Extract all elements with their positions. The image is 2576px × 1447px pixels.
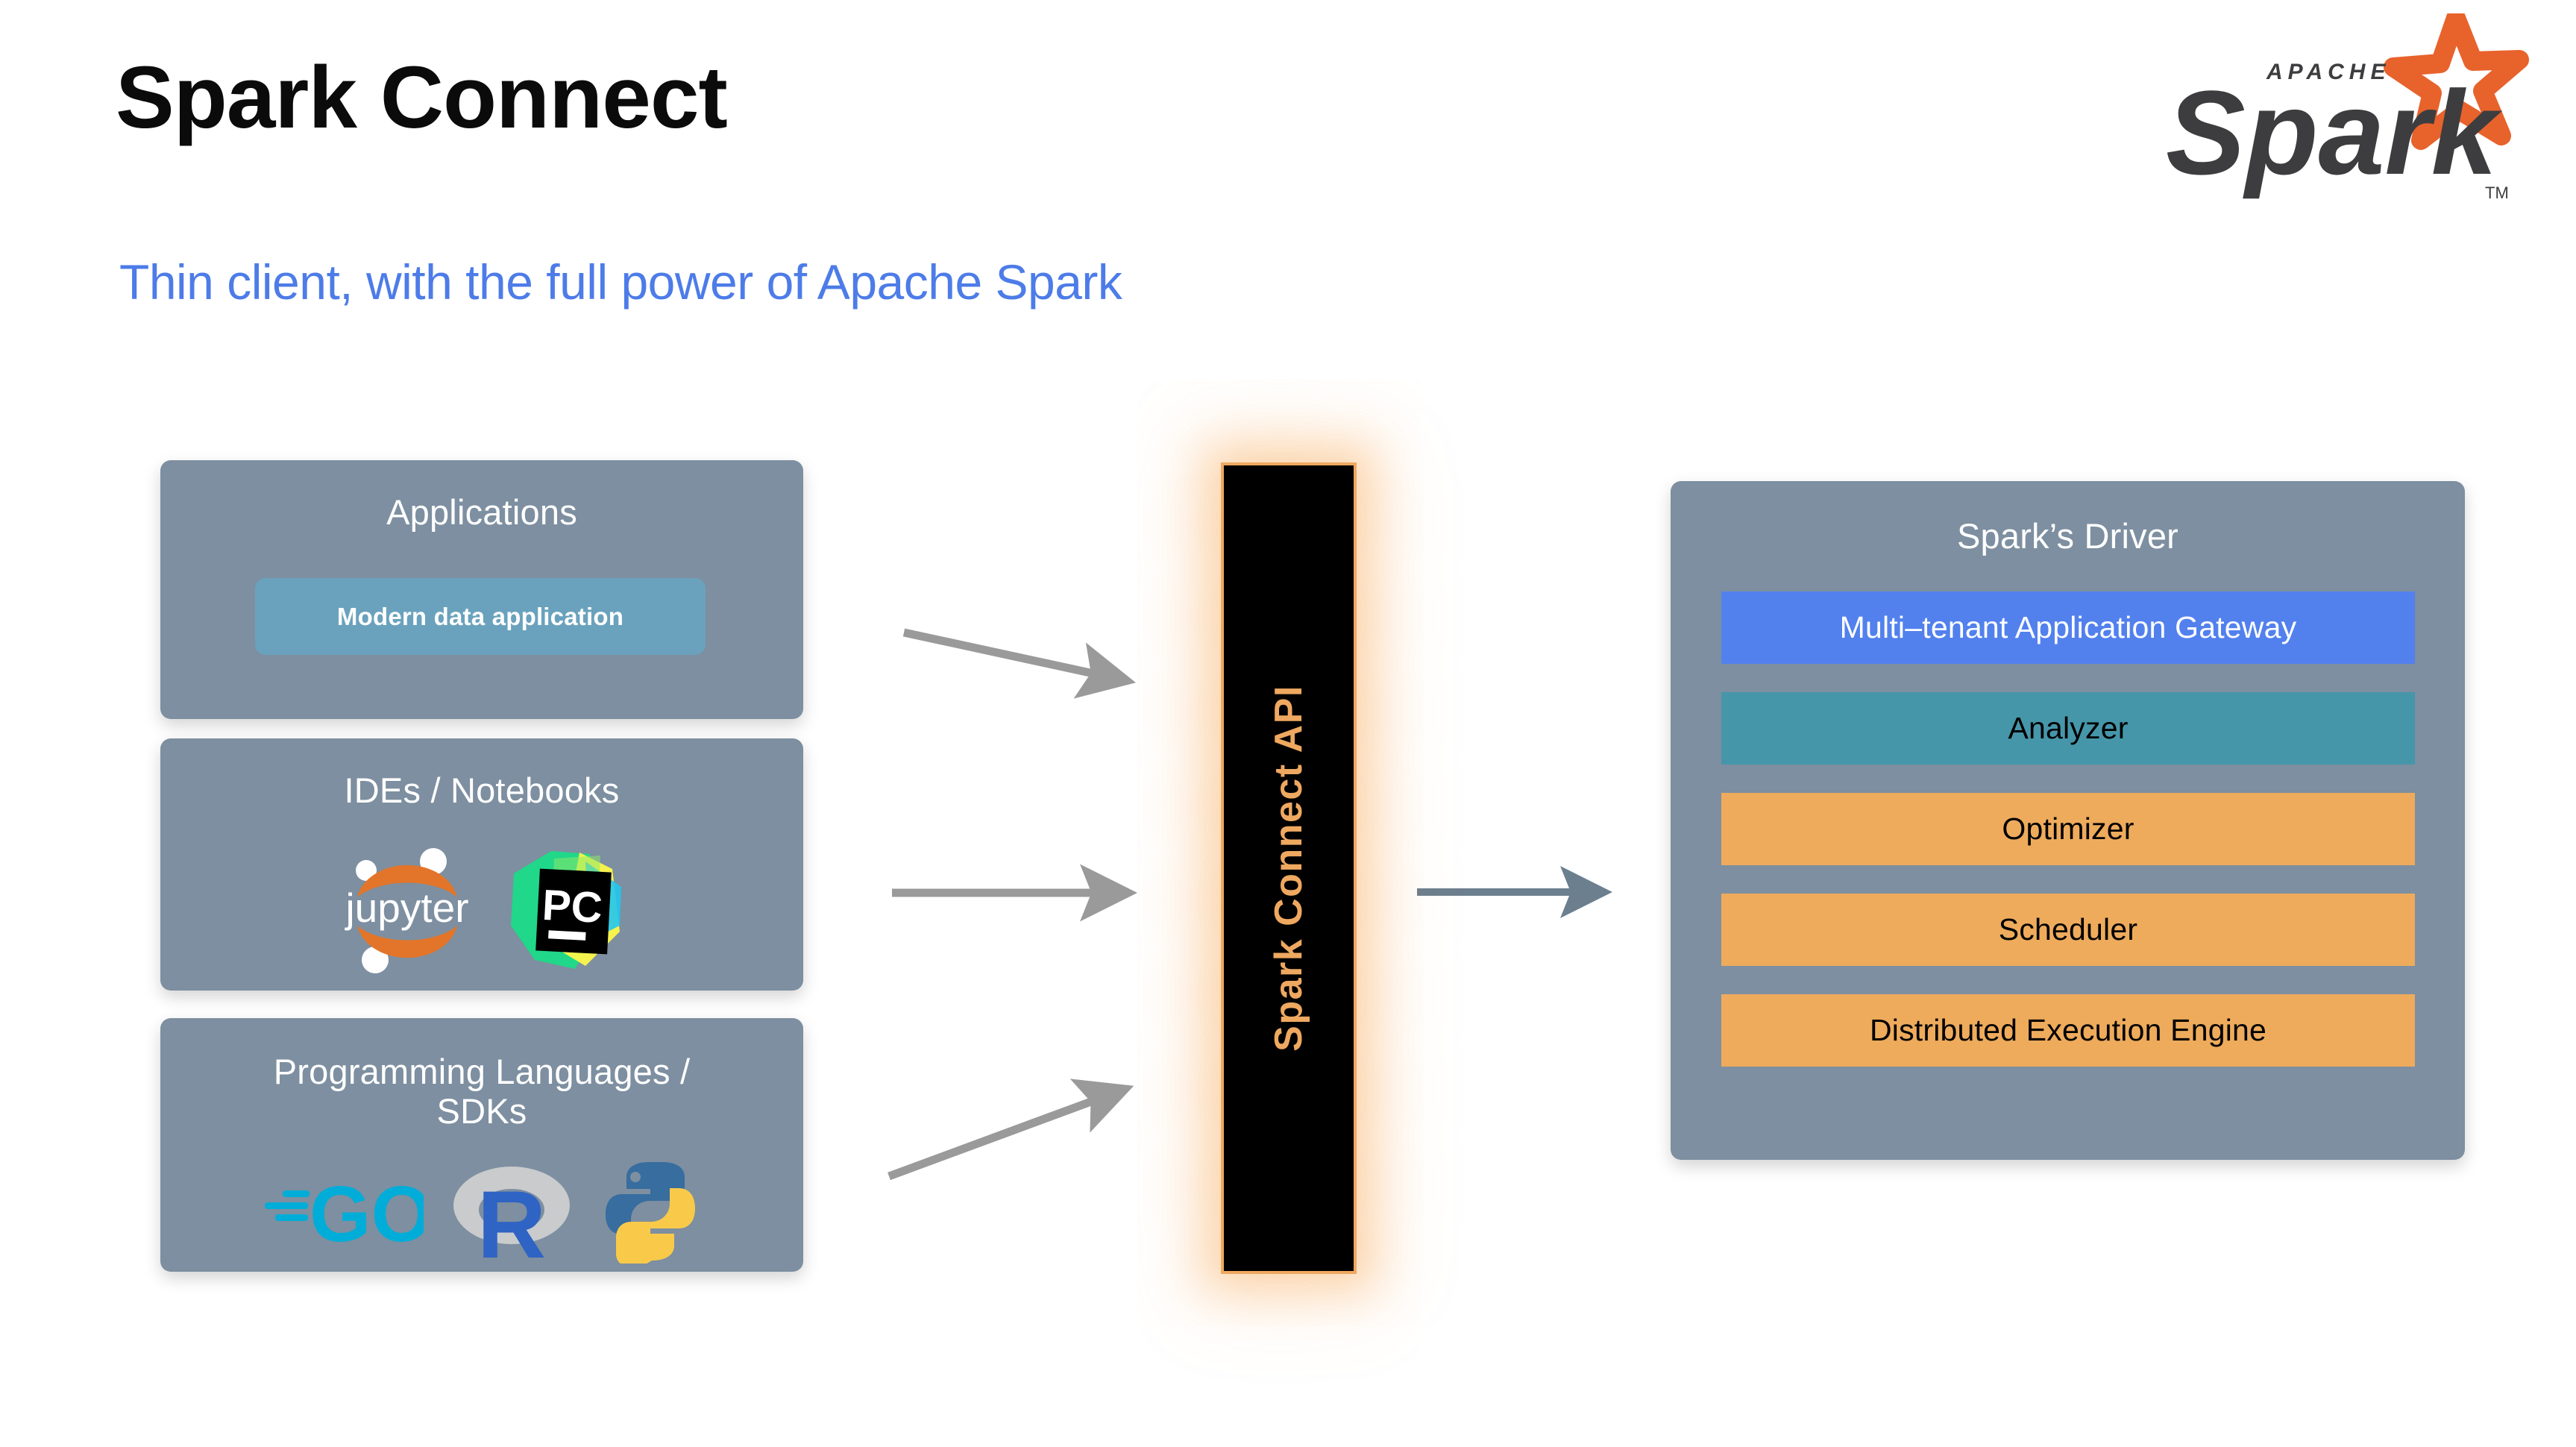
spark-connect-api-bar[interactable]: Spark Connect API — [1221, 462, 1357, 1274]
driver-row-scheduler[interactable]: Scheduler — [1721, 894, 2415, 966]
arrow-applications-to-api — [904, 633, 1104, 676]
logo-trademark-text: TM — [2485, 183, 2509, 202]
panel-applications[interactable]: Applications Modern data application — [160, 460, 803, 719]
spark-connect-api-label: Spark Connect API — [1266, 685, 1311, 1052]
apache-spark-logo: APACHE Spark TM — [2158, 13, 2531, 215]
panel-languages-title-line2: SDKs — [160, 1092, 803, 1131]
panel-ides-title: IDEs / Notebooks — [160, 771, 803, 811]
python-logo-icon — [600, 1159, 701, 1267]
languages-icon-row: GO R — [160, 1156, 803, 1270]
driver-row-optimizer[interactable]: Optimizer — [1721, 793, 2415, 865]
page-title: Spark Connect — [116, 54, 727, 142]
ides-icon-row: jupyter PC — [160, 848, 803, 977]
driver-row-multi-tenant-application-gateway[interactable]: Multi–tenant Application Gateway — [1721, 591, 2415, 664]
r-logo-icon: R — [449, 1156, 574, 1270]
modern-data-application-box[interactable]: Modern data application — [255, 578, 706, 655]
go-logo-icon: GO — [263, 1167, 424, 1260]
svg-text:GO: GO — [310, 1170, 424, 1256]
driver-row-analyzer[interactable]: Analyzer — [1721, 692, 2415, 765]
panel-languages-title-line1: Programming Languages / — [160, 1052, 803, 1092]
panel-driver-title: Spark’s Driver — [1671, 517, 2465, 556]
svg-text:PC: PC — [541, 881, 603, 932]
panel-applications-title: Applications — [160, 493, 803, 533]
panel-sparks-driver[interactable]: Spark’s Driver Multi–tenant Application … — [1671, 481, 2465, 1160]
panel-programming-languages[interactable]: Programming Languages / SDKs GO R — [160, 1018, 803, 1272]
svg-text:R: R — [477, 1172, 545, 1266]
svg-text:jupyter: jupyter — [344, 885, 468, 931]
panel-languages-title: Programming Languages / SDKs — [160, 1052, 803, 1131]
driver-row-distributed-execution-engine[interactable]: Distributed Execution Engine — [1721, 994, 2415, 1067]
page-subtitle: Thin client, with the full power of Apac… — [119, 257, 1122, 307]
pycharm-logo-icon: PC — [508, 848, 627, 977]
panel-ides-notebooks[interactable]: IDEs / Notebooks jupyter PC — [160, 738, 803, 991]
arrow-languages-to-api — [889, 1097, 1103, 1176]
jupyter-logo-icon: jupyter — [336, 848, 478, 977]
logo-wordmark-text: Spark — [2166, 66, 2503, 199]
